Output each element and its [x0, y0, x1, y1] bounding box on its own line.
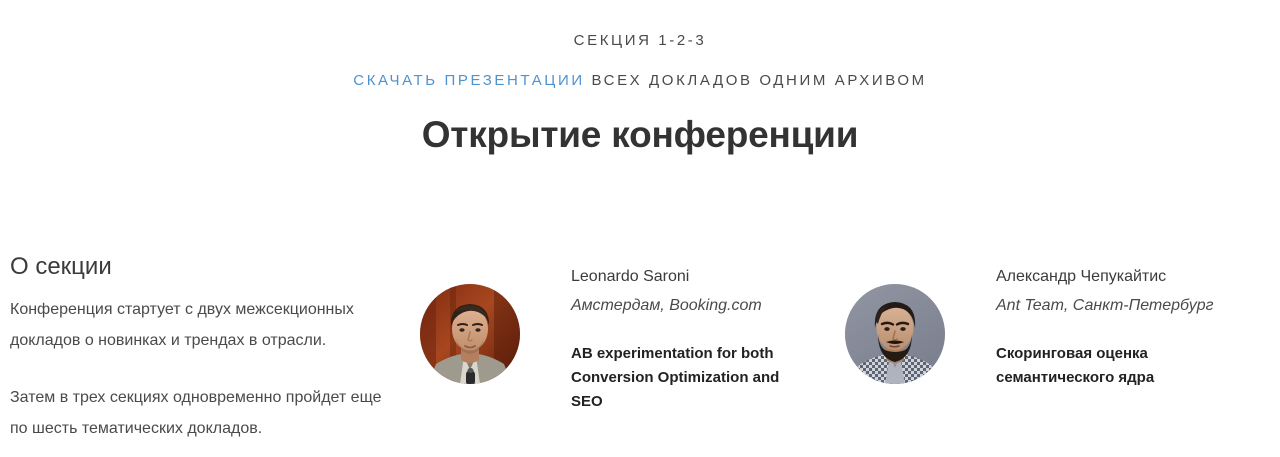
talk-title[interactable]: AB experimentation for both Conversion O… [571, 342, 794, 414]
section-eyebrow: СЕКЦИЯ 1-2-3 [0, 31, 1280, 51]
download-presentations-link[interactable]: СКАЧАТЬ ПРЕЗЕНТАЦИИ [353, 72, 585, 89]
page-header: СЕКЦИЯ 1-2-3 СКАЧАТЬ ПРЕЗЕНТАЦИИ ВСЕХ ДО… [0, 0, 1280, 158]
page-title: Открытие конференции [0, 112, 1280, 158]
speaker-name: Leonardo Saroni [571, 265, 794, 289]
speaker-info-2: Александр Чепукайтис Ant Team, Санкт-Пет… [945, 255, 1219, 390]
page-root: СЕКЦИЯ 1-2-3 СКАЧАТЬ ПРЕЗЕНТАЦИИ ВСЕХ ДО… [0, 0, 1280, 457]
about-paragraph-1: Конференция стартует с двух межсекционны… [10, 294, 400, 356]
speaker-photo-aleksandr-chepukaytis [845, 284, 945, 384]
speaker-affiliation: Амстердам, Booking.com [571, 294, 794, 318]
about-section: О секции Конференция стартует с двух меж… [0, 252, 420, 444]
about-heading: О секции [10, 252, 400, 282]
download-archive-line: СКАЧАТЬ ПРЕЗЕНТАЦИИ ВСЕХ ДОКЛАДОВ ОДНИМ … [0, 71, 1280, 91]
about-paragraph-2: Затем в трех секциях одновременно пройде… [10, 382, 400, 444]
speaker-card-2[interactable]: Александр Чепукайтис Ant Team, Санкт-Пет… [845, 252, 1270, 390]
content-area: О секции Конференция стартует с двух меж… [0, 252, 1280, 444]
speaker-info-1: Leonardo Saroni Амстердам, Booking.com A… [520, 255, 794, 414]
speaker-affiliation: Ant Team, Санкт-Петербург [996, 294, 1219, 318]
talk-title[interactable]: Скоринговая оценка семантического ядра [996, 342, 1219, 390]
download-archive-rest-text: ВСЕХ ДОКЛАДОВ ОДНИМ АРХИВОМ [585, 72, 927, 89]
speaker-name: Александр Чепукайтис [996, 265, 1219, 289]
speaker-card-1[interactable]: Leonardo Saroni Амстердам, Booking.com A… [420, 252, 845, 414]
speaker-photo-leonardo-saroni [420, 284, 520, 384]
